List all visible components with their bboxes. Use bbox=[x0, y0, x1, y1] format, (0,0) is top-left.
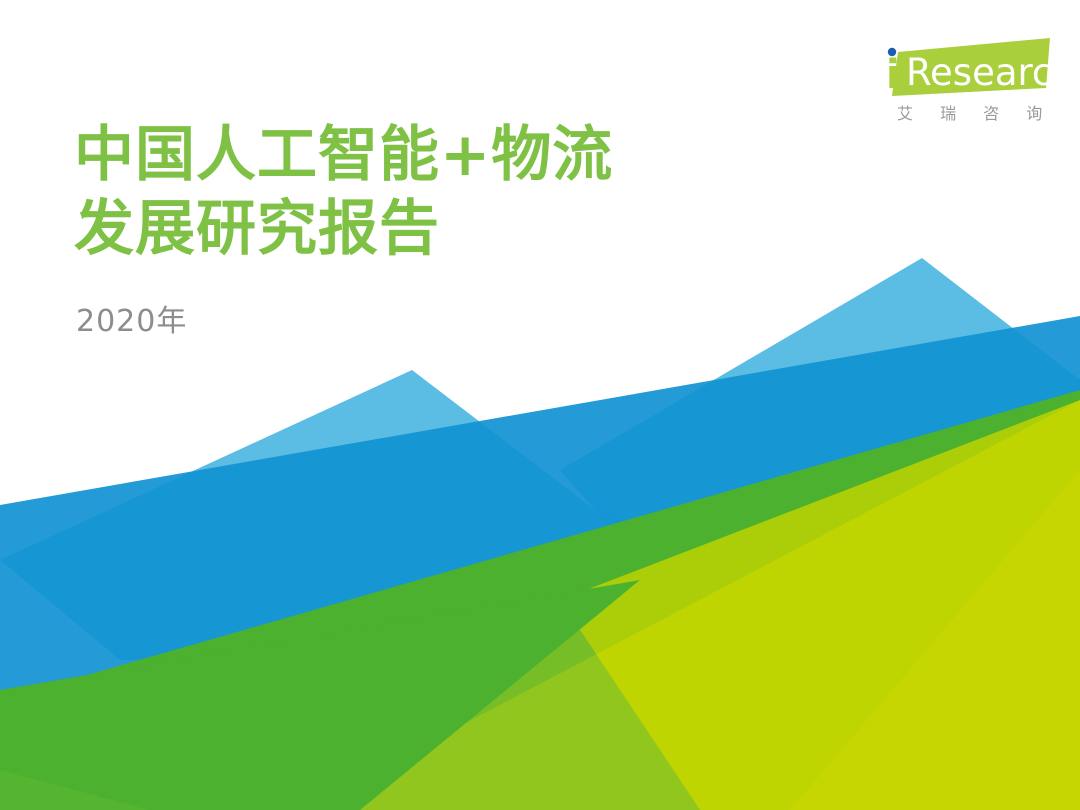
logo-shape-svg: i Research bbox=[878, 38, 1050, 100]
report-cover-page: i Research 艾 瑞 咨 询 中国人工智能+物流 发展研究报告 2020… bbox=[0, 0, 1080, 810]
logo-wordmark: Research bbox=[906, 51, 1050, 94]
logo-i-letter: i bbox=[886, 52, 900, 98]
page-title: 中国人工智能+物流 发展研究报告 bbox=[74, 118, 834, 266]
logo-subtitle-cn: 艾 瑞 咨 询 bbox=[886, 100, 1050, 124]
iresearch-logo: i Research 艾 瑞 咨 询 bbox=[878, 38, 1050, 134]
logo-mark: i Research bbox=[878, 38, 1050, 100]
page-title-line-1: 中国人工智能+物流 bbox=[74, 118, 834, 192]
page-subtitle-year: 2020年 bbox=[76, 296, 187, 340]
page-title-line-2: 发展研究报告 bbox=[74, 192, 834, 266]
